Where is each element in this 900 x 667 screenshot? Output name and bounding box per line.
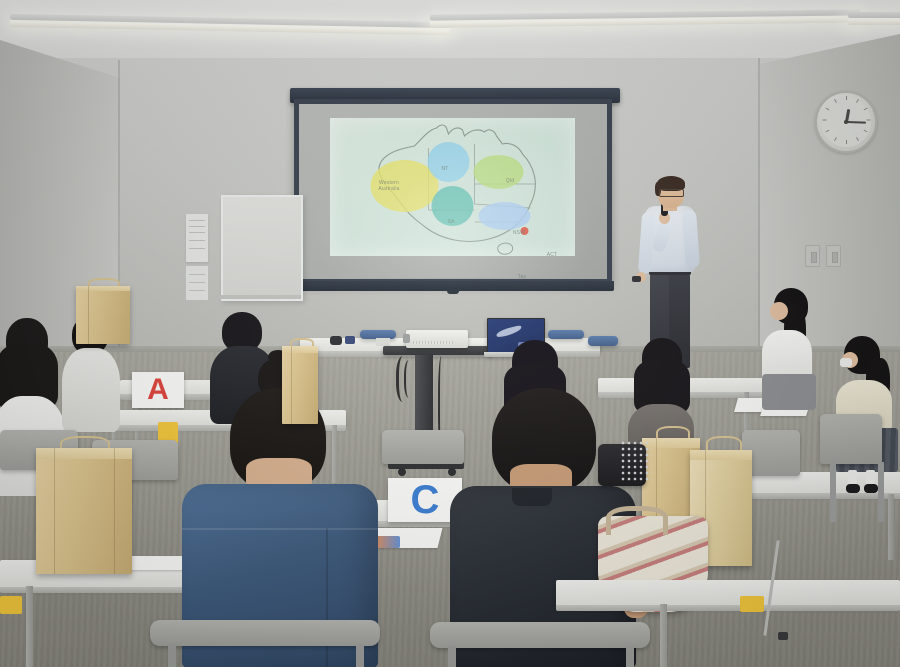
student-face [770,302,788,320]
denim-side-seam [326,528,328,667]
slide-label-wa: WesternAustralia [358,180,420,193]
yellow-hook-right [740,596,764,612]
slide-label-act: ACT [542,252,562,258]
chair-right-1[interactable] [820,414,882,464]
slide-australia-map: WesternAustralia NT Qld SA NSW ACT Tas [330,118,575,256]
tote-handle [606,506,668,535]
desk-leg [660,604,667,667]
cart-caster-left [398,468,406,476]
blue-chair-3[interactable] [588,336,618,346]
cane-tip [778,632,788,640]
slide-label-tas: Tas [512,274,532,280]
student-right-1 [760,288,826,408]
projector-lens [403,334,410,343]
chair-mid-center[interactable] [382,430,464,464]
chair-front-right[interactable] [430,622,650,648]
chair-leg [878,462,884,522]
student-top [62,348,120,432]
student-shoe-left [846,484,860,493]
whiteboard-tray [219,295,301,299]
desk-front-right [556,580,900,606]
region-nt [428,142,470,182]
paper-bag-center-left [282,346,318,424]
letter-card-a-text: A [147,373,169,407]
ceiling-light-3 [848,16,900,25]
desk-item-paper [376,338,390,346]
wall-clock: 12:15 [815,91,877,153]
student-shoe-right [864,484,878,493]
classroom-scene: 12:15 WesternAustral [0,0,900,667]
face-mask [840,358,852,367]
blue-chair-2[interactable] [548,330,584,339]
letter-card-c-text: C [411,478,440,523]
paper-bag-front-left [36,448,132,574]
presenter-arm-right [682,210,700,269]
slide-label-nsw: NSW [506,230,532,236]
desk-leg [888,494,894,560]
chair-leg [356,644,364,667]
notice-sheet-lower [186,266,208,300]
glasses-icon [659,189,684,197]
slide-label-qld: Qld [498,178,522,184]
chair-front-left[interactable] [150,620,380,646]
power-outlet-plate[interactable] [826,245,841,267]
notice-sheet-upper [186,214,208,262]
laptop-wallpaper-swoosh [496,325,523,338]
denim-yoke-seam [182,528,378,530]
whiteboard [221,195,303,301]
chair-leg [448,646,456,667]
yellow-hook-far-left [0,596,22,614]
projector-vent [413,341,453,344]
light-switch-plate[interactable] [805,245,820,267]
desk-leg [26,586,33,667]
presenter-clicker[interactable] [632,276,641,282]
desk-item-blue [345,336,355,344]
slide-label-nt: NT [434,166,456,172]
region-nsw [479,202,531,230]
paper-bag-left-row [76,286,130,344]
desk-item-dark [330,336,342,345]
slide-label-sa: SA [440,219,462,225]
student-skirt [762,374,816,410]
chair-leg [626,646,634,667]
projector-cable-2 [404,360,416,398]
projector [406,330,468,348]
chair-leg [830,462,836,522]
polo-collar [512,488,552,506]
projection-screen-pull-knob[interactable] [447,289,459,294]
chair-leg [168,644,176,667]
beaded-strap [620,440,652,482]
